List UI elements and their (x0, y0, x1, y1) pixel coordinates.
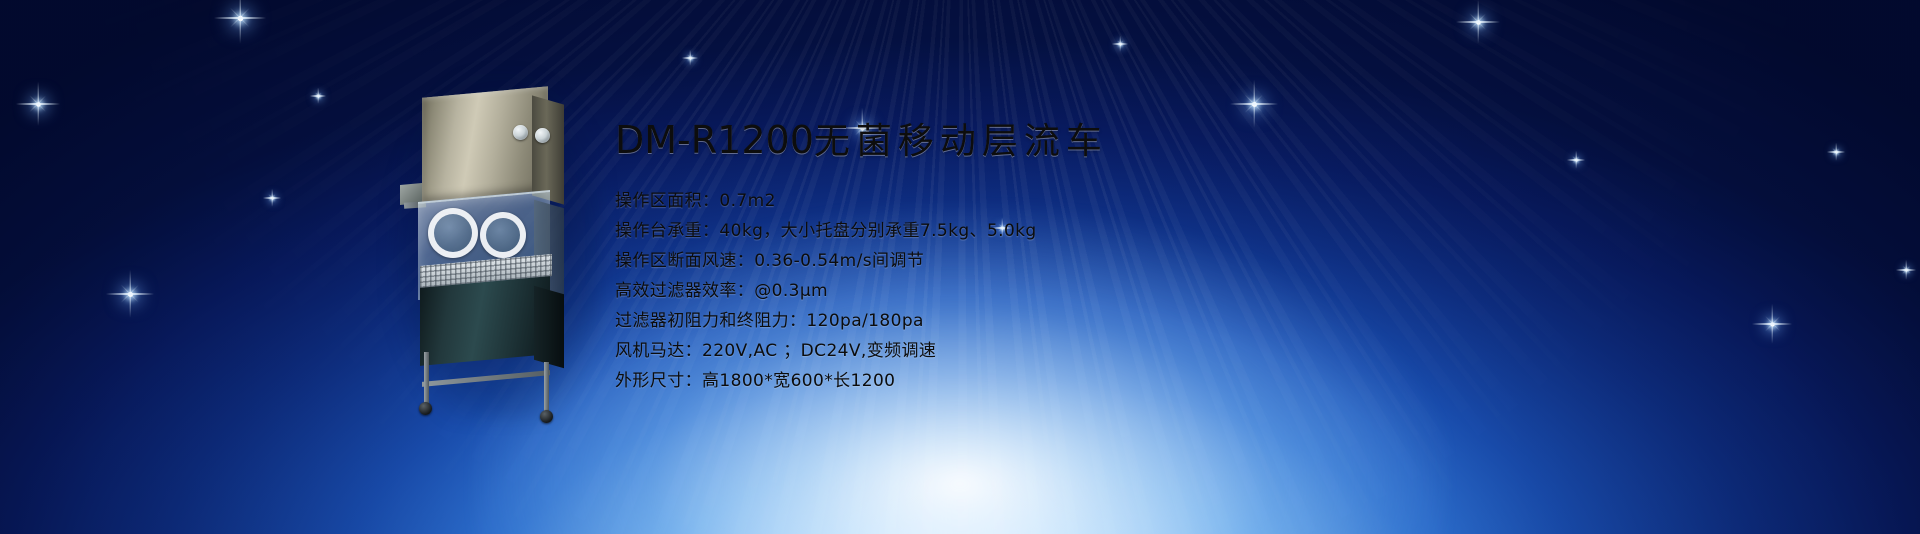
banner-text-block: DM-R1200无菌移动层流车 操作区面积：0.7m2操作台承重：40kg，大小… (615, 112, 1615, 396)
spec-line: 高效过滤器效率：@0.3μm (615, 276, 1615, 306)
cabinet-upper-body (422, 86, 548, 201)
cabinet-lower-body (420, 276, 550, 366)
caster-wheel-right (540, 410, 553, 423)
cabinet-upper-side (532, 95, 564, 204)
cabinet-lower-side (534, 286, 564, 369)
spec-line: 过滤器初阻力和终阻力：120pa/180pa (615, 306, 1615, 336)
product-image (404, 84, 584, 406)
spec-line: 外形尺寸：高1800*宽600*长1200 (615, 366, 1615, 396)
pressure-gauge-left (513, 125, 528, 140)
spec-line: 风机马达：220V,AC ；DC24V,变频调速 (615, 336, 1615, 366)
pressure-gauge-right (535, 128, 550, 143)
spec-line: 操作区断面风速：0.36-0.54m/s间调节 (615, 246, 1615, 276)
frame-leg-right (544, 362, 549, 414)
glove-port-left (428, 208, 478, 258)
caster-wheel-left (419, 402, 432, 415)
product-banner: DM-R1200无菌移动层流车 操作区面积：0.7m2操作台承重：40kg，大小… (0, 0, 1920, 534)
spec-line: 操作台承重：40kg，大小托盘分别承重7.5kg、5.0kg (615, 216, 1615, 246)
frame-leg-left (424, 352, 429, 408)
glove-port-right (480, 212, 526, 258)
spec-line: 操作区面积：0.7m2 (615, 186, 1615, 216)
specification-list: 操作区面积：0.7m2操作台承重：40kg，大小托盘分别承重7.5kg、5.0k… (615, 186, 1615, 396)
product-name-cn: 无菌移动层流车 (814, 121, 1108, 162)
page-title: DM-R1200无菌移动层流车 (615, 112, 1615, 164)
product-model: DM-R1200 (615, 118, 814, 162)
